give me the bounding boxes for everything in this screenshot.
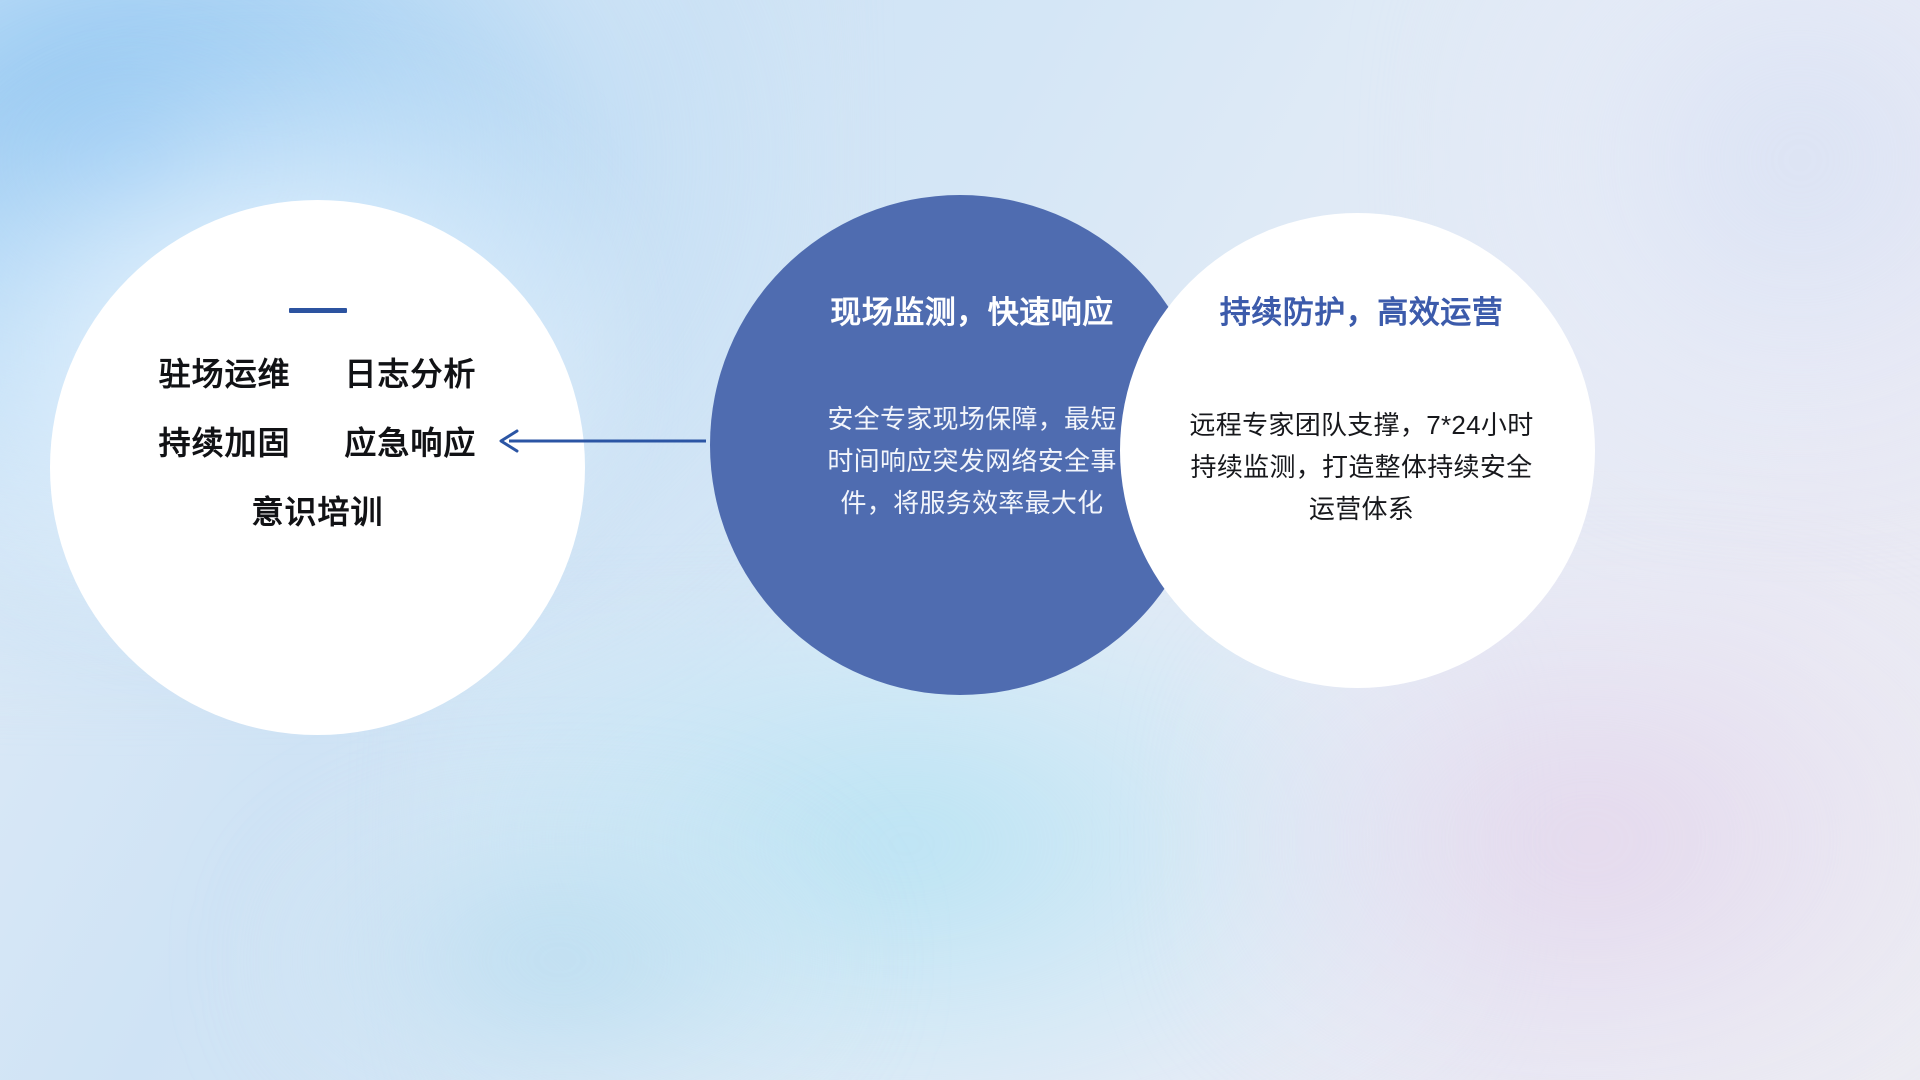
keyword-item: 意识培训 xyxy=(251,494,383,530)
divider-dash-icon xyxy=(289,308,347,313)
middle-circle-body: 安全专家现场保障，最短时间响应突发网络安全事件，将服务效率最大化 xyxy=(822,398,1122,524)
left-circle-content: 驻场运维 日志分析 持续加固 应急响应 意识培训 xyxy=(50,308,585,531)
left-service-circle[interactable]: 驻场运维 日志分析 持续加固 应急响应 意识培训 xyxy=(50,200,585,735)
middle-circle-content: 现场监测，快速响应 安全专家现场保障，最短时间响应突发网络安全事件，将服务效率最… xyxy=(760,287,1184,524)
slide-canvas: 驻场运维 日志分析 持续加固 应急响应 意识培训 现场监测，快速响应 安全专家现… xyxy=(0,0,1920,1080)
keyword-row: 驻场运维 日志分析 xyxy=(100,357,535,392)
right-operations-circle[interactable]: 持续防护，高效运营 远程专家团队支撑，7*24小时持续监测，打造整体持续安全运营… xyxy=(1120,213,1595,688)
right-circle-title: 持续防护，高效运营 xyxy=(1146,287,1577,332)
keyword-row: 持续加固 应急响应 xyxy=(100,426,535,461)
keyword-row: 意识培训 xyxy=(100,495,535,530)
keyword-item: 持续加固 xyxy=(159,425,291,461)
middle-circle-title: 现场监测，快速响应 xyxy=(760,287,1184,332)
flow-arrow-icon xyxy=(495,424,710,458)
keyword-item: 驻场运维 xyxy=(159,356,291,392)
right-circle-body: 远程专家团队支撑，7*24小时持续监测，打造整体持续安全运营体系 xyxy=(1184,404,1540,530)
background-glow-bottom-left xyxy=(250,780,870,1080)
keyword-item: 日志分析 xyxy=(344,356,476,392)
keyword-item: 应急响应 xyxy=(344,425,476,461)
right-circle-content: 持续防护，高效运营 远程专家团队支撑，7*24小时持续监测，打造整体持续安全运营… xyxy=(1146,287,1577,530)
